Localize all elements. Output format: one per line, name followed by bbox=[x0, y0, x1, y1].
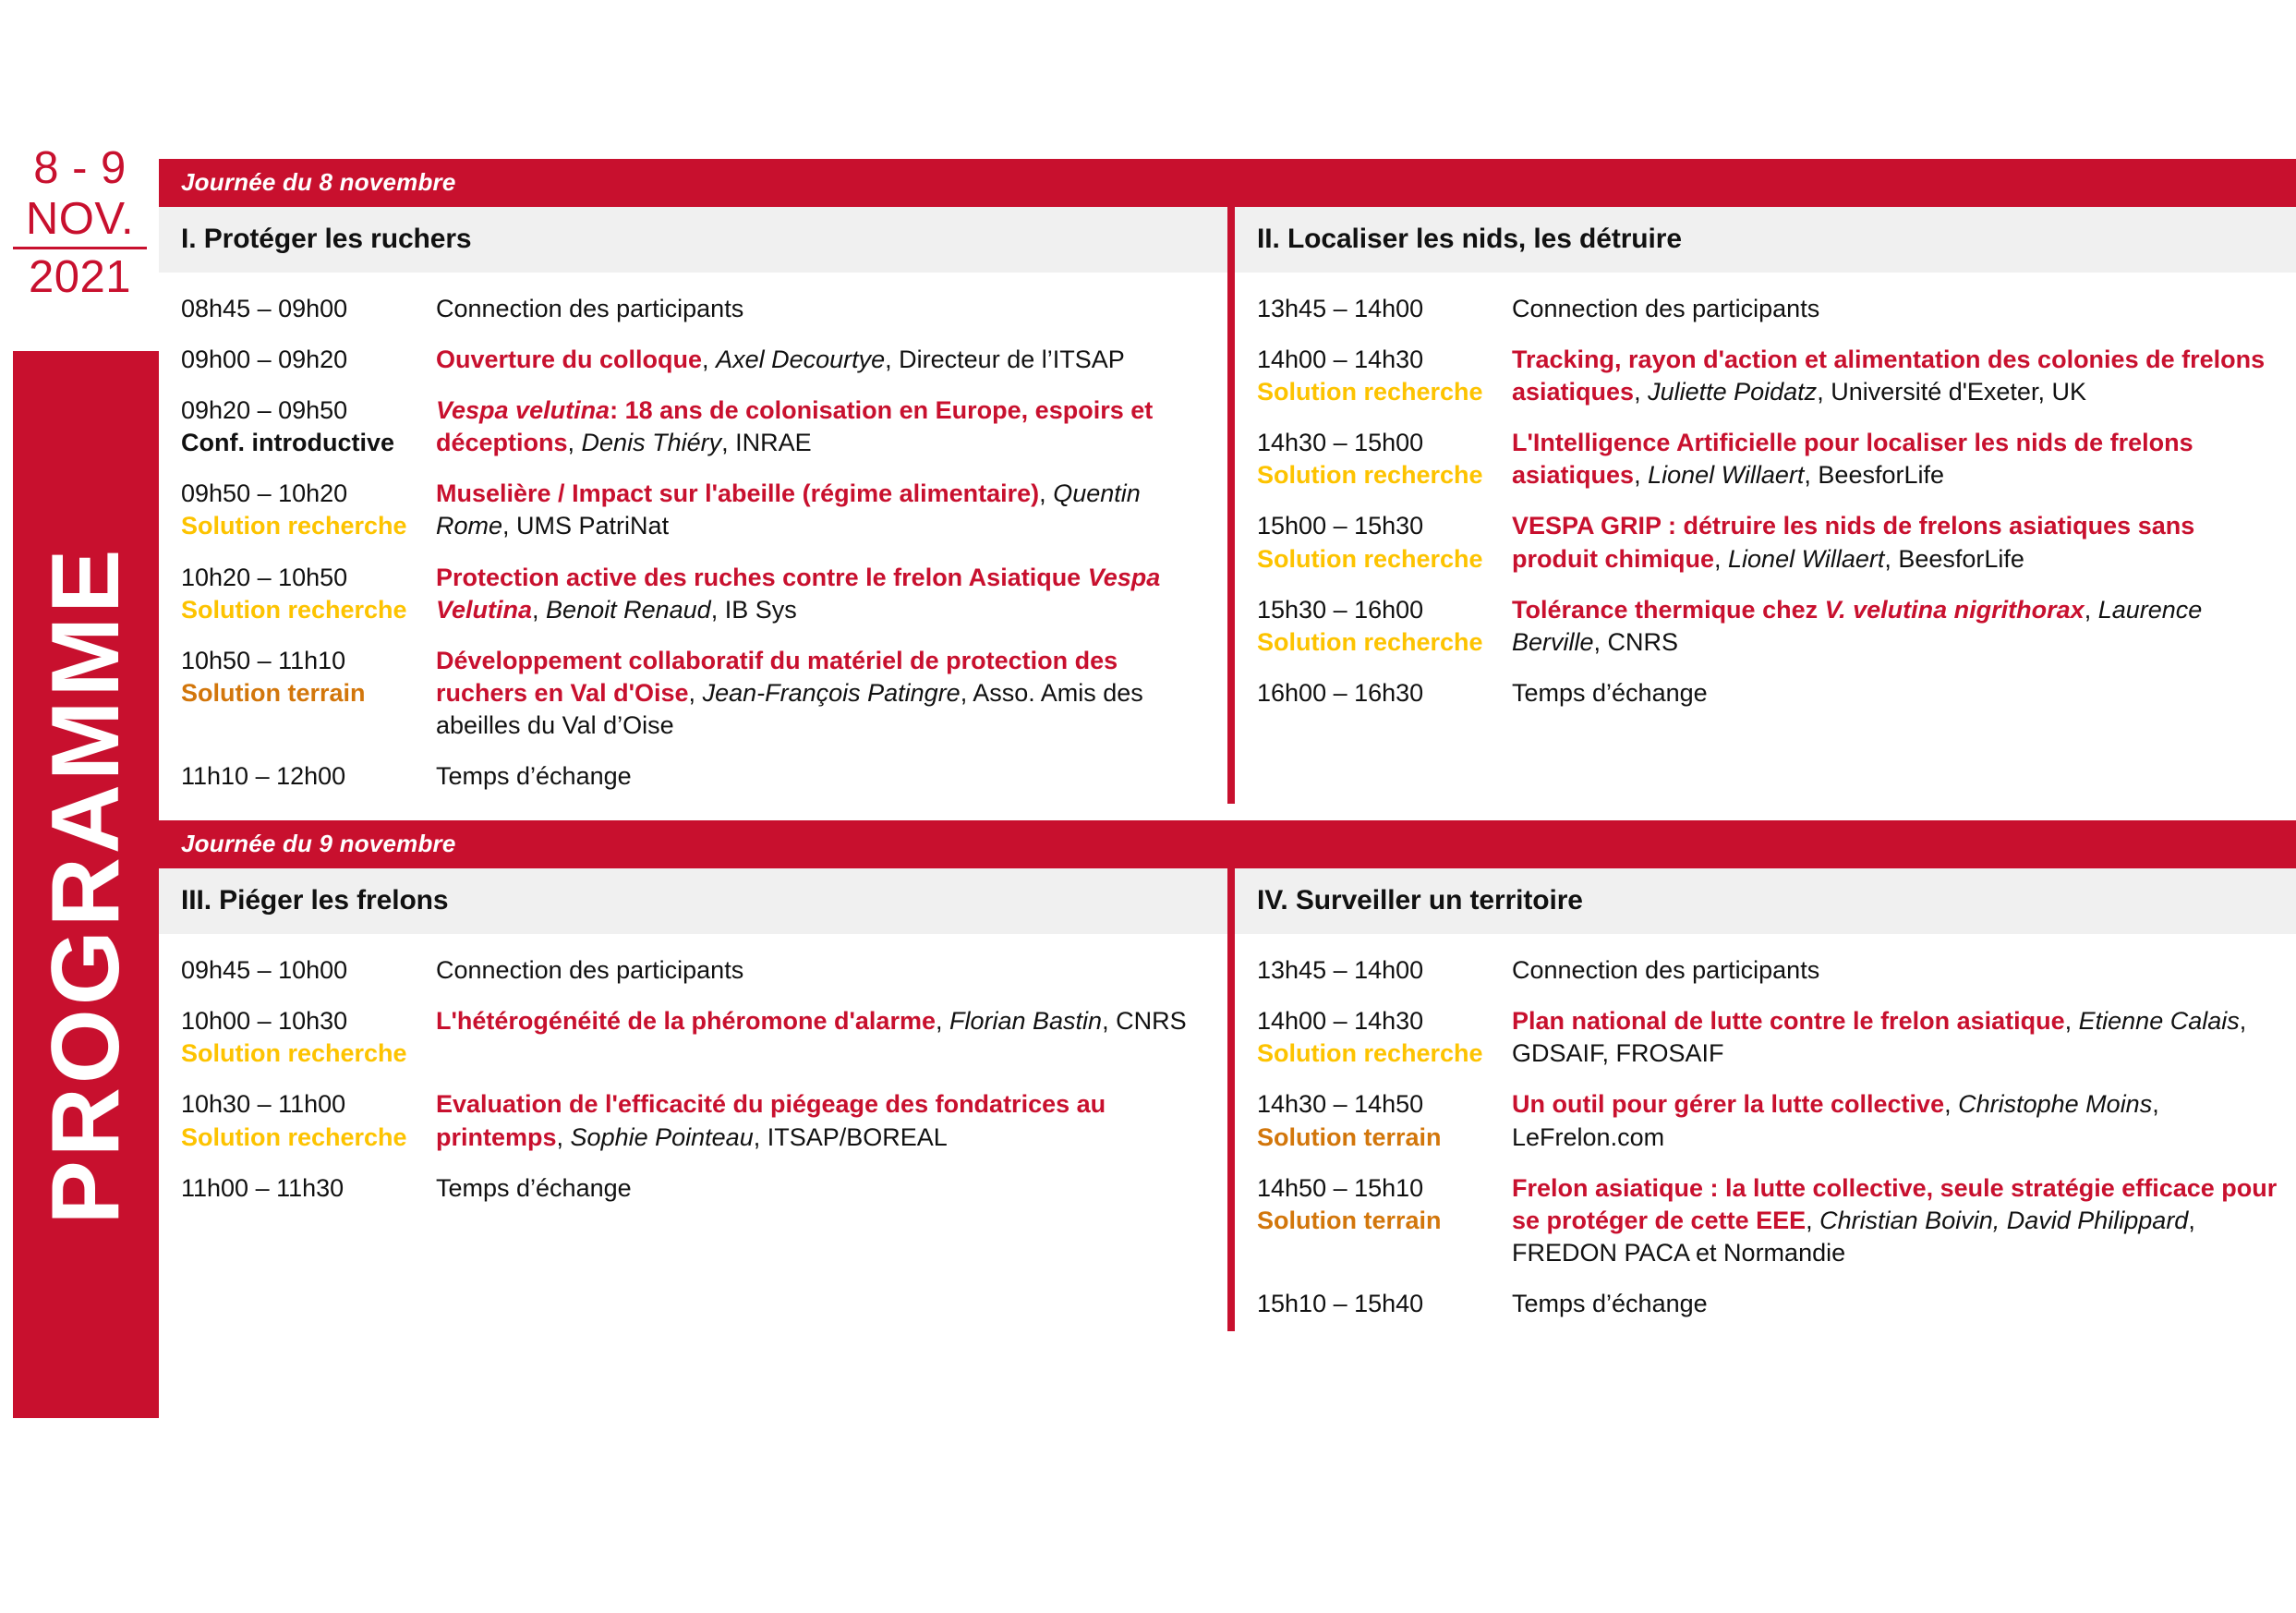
speaker-affiliation: , Université d'Exeter, UK bbox=[1817, 378, 2086, 406]
session-column-iv: IV. Surveiller un territoire 13h45 – 14h… bbox=[1227, 868, 2296, 1331]
schedule-row: 11h00 – 11h30Temps d’échange bbox=[159, 1165, 1227, 1216]
speaker-affiliation: , ITSAP/BOREAL bbox=[754, 1123, 948, 1151]
schedule-row: 08h45 – 09h00Connection des participants bbox=[159, 285, 1227, 336]
schedule-time-cell: 13h45 – 14h00 bbox=[1235, 954, 1512, 987]
date-year: 2021 bbox=[13, 249, 147, 303]
schedule-row: 11h10 – 12h00Temps d’échange bbox=[159, 753, 1227, 804]
schedule-description-cell: Ouverture du colloque, Axel Decourtye, D… bbox=[436, 344, 1227, 376]
day1-columns: I. Protéger les ruchers 08h45 – 09h00Con… bbox=[159, 207, 2296, 804]
day1-bottom-spacer bbox=[159, 804, 2296, 820]
talk-title: Tolérance thermique chez bbox=[1512, 596, 1825, 624]
speaker-affiliation: , BeesforLife bbox=[1884, 545, 2024, 573]
speaker-affiliation: Connection des participants bbox=[436, 956, 743, 984]
schedule-time-cell: 15h30 – 16h00Solution recherche bbox=[1235, 594, 1512, 659]
speaker-name: Christian Boivin, David Philippard bbox=[1819, 1207, 2188, 1234]
schedule-row: 13h45 – 14h00Connection des participants bbox=[1235, 285, 2296, 336]
schedule-description-cell: Temps d’échange bbox=[1512, 677, 2296, 709]
talk-title: Muselière / Impact sur l'abeille (régime… bbox=[436, 479, 1039, 507]
session-rows-i: 08h45 – 09h00Connection des participants… bbox=[159, 273, 1227, 804]
day-banner-8-november: Journée du 8 novembre bbox=[159, 159, 2296, 207]
schedule-tag-recherche: Solution recherche bbox=[181, 594, 436, 626]
schedule-description-cell: Protection active des ruches contre le f… bbox=[436, 562, 1227, 626]
schedule-row: 13h45 – 14h00Connection des participants bbox=[1235, 947, 2296, 998]
schedule-row: 10h20 – 10h50Solution rechercheProtectio… bbox=[159, 554, 1227, 637]
schedule-row: 14h30 – 14h50Solution terrainUn outil po… bbox=[1235, 1081, 2296, 1164]
schedule-time-cell: 10h00 – 10h30Solution recherche bbox=[159, 1005, 436, 1070]
schedule-time: 08h45 – 09h00 bbox=[181, 293, 436, 325]
schedule-tag-recherche: Solution recherche bbox=[1257, 459, 1512, 491]
schedule-time-cell: 09h45 – 10h00 bbox=[159, 954, 436, 987]
speaker-affiliation: Connection des participants bbox=[436, 295, 743, 322]
schedule-tag-terrain: Solution terrain bbox=[1257, 1205, 1512, 1237]
speaker-affiliation: , bbox=[2065, 1007, 2079, 1035]
schedule-time: 09h50 – 10h20 bbox=[181, 478, 436, 510]
speaker-affiliation: , bbox=[1634, 461, 1648, 489]
schedule-description-cell: Temps d’échange bbox=[436, 760, 1227, 793]
schedule-description-cell: VESPA GRIP : détruire les nids de frelon… bbox=[1512, 510, 2296, 575]
schedule-tag-recherche: Solution recherche bbox=[1257, 626, 1512, 659]
session-rows-iv: 13h45 – 14h00Connection des participants… bbox=[1235, 934, 2296, 1331]
schedule-tag-intro: Conf. introductive bbox=[181, 427, 436, 459]
session-column-iii: III. Piéger les frelons 09h45 – 10h00Con… bbox=[159, 868, 1227, 1331]
speaker-affiliation: , bbox=[557, 1123, 571, 1151]
schedule-time-cell: 14h50 – 15h10Solution terrain bbox=[1235, 1172, 1512, 1237]
speaker-affiliation: , bbox=[936, 1007, 949, 1035]
left-rail: 8 - 9 NOV. 2021 PROGRAMME bbox=[13, 0, 159, 1613]
schedule-row: 14h50 – 15h10Solution terrainFrelon asia… bbox=[1235, 1165, 2296, 1280]
schedule-tag-recherche: Solution recherche bbox=[1257, 1037, 1512, 1070]
speaker-name: Denis Thiéry bbox=[582, 429, 722, 456]
programme-table: Journée du 8 novembre I. Protéger les ru… bbox=[159, 159, 2296, 1331]
programme-rail-band: PROGRAMME bbox=[13, 351, 159, 1418]
schedule-time: 10h30 – 11h00 bbox=[181, 1088, 436, 1121]
schedule-time-cell: 10h30 – 11h00Solution recherche bbox=[159, 1088, 436, 1153]
schedule-tag-recherche: Solution recherche bbox=[1257, 376, 1512, 408]
speaker-affiliation: , CNRS bbox=[1594, 628, 1679, 656]
schedule-time-cell: 14h30 – 14h50Solution terrain bbox=[1235, 1088, 1512, 1153]
section-title-iii: III. Piéger les frelons bbox=[159, 868, 1227, 934]
speaker-name: Lionel Willaert bbox=[1648, 461, 1804, 489]
talk-title: Ouverture du colloque bbox=[436, 346, 702, 373]
schedule-row: 15h00 – 15h30Solution rechercheVESPA GRI… bbox=[1235, 503, 2296, 586]
schedule-description-cell: Temps d’échange bbox=[1512, 1288, 2296, 1320]
schedule-time: 10h20 – 10h50 bbox=[181, 562, 436, 594]
speaker-affiliation: , bbox=[702, 346, 716, 373]
schedule-time: 11h00 – 11h30 bbox=[181, 1172, 436, 1205]
schedule-tag-terrain: Solution terrain bbox=[1257, 1122, 1512, 1154]
schedule-time: 14h50 – 15h10 bbox=[1257, 1172, 1512, 1205]
speaker-affiliation: Temps d’échange bbox=[436, 762, 632, 790]
schedule-time-cell: 10h20 – 10h50Solution recherche bbox=[159, 562, 436, 626]
speaker-affiliation: , bbox=[1944, 1090, 1958, 1118]
schedule-time: 14h30 – 14h50 bbox=[1257, 1088, 1512, 1121]
schedule-time: 14h30 – 15h00 bbox=[1257, 427, 1512, 459]
date-days: 8 - 9 bbox=[13, 143, 147, 194]
session-rows-iii: 09h45 – 10h00Connection des participants… bbox=[159, 934, 1227, 1216]
schedule-row: 09h45 – 10h00Connection des participants bbox=[159, 947, 1227, 998]
session-column-i: I. Protéger les ruchers 08h45 – 09h00Con… bbox=[159, 207, 1227, 804]
schedule-description-cell: Muselière / Impact sur l'abeille (régime… bbox=[436, 478, 1227, 542]
speaker-affiliation: , bbox=[568, 429, 582, 456]
schedule-row: 09h00 – 09h20Ouverture du colloque, Axel… bbox=[159, 336, 1227, 387]
talk-title: Protection active des ruches contre le f… bbox=[436, 564, 1088, 591]
schedule-row: 09h20 – 09h50Conf. introductiveVespa vel… bbox=[159, 387, 1227, 470]
schedule-row: 09h50 – 10h20Solution rechercheMuselière… bbox=[159, 470, 1227, 553]
schedule-time: 10h50 – 11h10 bbox=[181, 645, 436, 677]
speaker-affiliation: , IB Sys bbox=[711, 596, 797, 624]
schedule-row: 15h30 – 16h00Solution rechercheTolérance… bbox=[1235, 587, 2296, 670]
schedule-row: 10h00 – 10h30Solution rechercheL'hétérog… bbox=[159, 998, 1227, 1081]
schedule-time-cell: 11h10 – 12h00 bbox=[159, 760, 436, 793]
schedule-row: 15h10 – 15h40Temps d’échange bbox=[1235, 1280, 2296, 1331]
schedule-time-cell: 15h00 – 15h30Solution recherche bbox=[1235, 510, 1512, 575]
schedule-description-cell: L'hétérogénéité de la phéromone d'alarme… bbox=[436, 1005, 1227, 1037]
speaker-affiliation: Connection des participants bbox=[1512, 295, 1819, 322]
speaker-affiliation: Temps d’échange bbox=[1512, 679, 1708, 707]
speaker-affiliation: Temps d’échange bbox=[436, 1174, 632, 1202]
schedule-description-cell: Tracking, rayon d'action et alimentation… bbox=[1512, 344, 2296, 408]
day-banner-9-november: Journée du 9 novembre bbox=[159, 820, 2296, 868]
schedule-row: 14h00 – 14h30Solution rechercheTracking,… bbox=[1235, 336, 2296, 419]
schedule-description-cell: Connection des participants bbox=[436, 954, 1227, 987]
schedule-description-cell: Connection des participants bbox=[1512, 954, 2296, 987]
speaker-affiliation: , bbox=[532, 596, 546, 624]
schedule-tag-recherche: Solution recherche bbox=[181, 510, 436, 542]
speaker-name: Benoit Renaud bbox=[546, 596, 711, 624]
schedule-time: 09h00 – 09h20 bbox=[181, 344, 436, 376]
schedule-time-cell: 16h00 – 16h30 bbox=[1235, 677, 1512, 709]
day2-columns: III. Piéger les frelons 09h45 – 10h00Con… bbox=[159, 868, 2296, 1331]
speaker-name: Juliette Poidatz bbox=[1648, 378, 1817, 406]
schedule-time: 14h00 – 14h30 bbox=[1257, 344, 1512, 376]
speaker-name: Florian Bastin bbox=[949, 1007, 1102, 1035]
speaker-affiliation: , BeesforLife bbox=[1804, 461, 1944, 489]
schedule-time-cell: 14h00 – 14h30Solution recherche bbox=[1235, 1005, 1512, 1070]
talk-title: Plan national de lutte contre le frelon … bbox=[1512, 1007, 2065, 1035]
schedule-tag-recherche: Solution recherche bbox=[181, 1122, 436, 1154]
schedule-time-cell: 13h45 – 14h00 bbox=[1235, 293, 1512, 325]
speaker-name: Etienne Calais bbox=[2079, 1007, 2240, 1035]
schedule-row: 14h30 – 15h00Solution rechercheL'Intelli… bbox=[1235, 419, 2296, 503]
speaker-affiliation: , CNRS bbox=[1102, 1007, 1187, 1035]
speaker-name: Sophie Pointeau bbox=[571, 1123, 754, 1151]
schedule-description-cell: Connection des participants bbox=[436, 293, 1227, 325]
speaker-affiliation: , bbox=[1806, 1207, 1819, 1234]
section-title-i: I. Protéger les ruchers bbox=[159, 207, 1227, 273]
speaker-affiliation: , INRAE bbox=[721, 429, 812, 456]
schedule-description-cell: Tolérance thermique chez V. velutina nig… bbox=[1512, 594, 2296, 659]
schedule-tag-terrain: Solution terrain bbox=[181, 677, 436, 709]
schedule-description-cell: Frelon asiatique : la lutte collective, … bbox=[1512, 1172, 2296, 1269]
date-month: NOV. bbox=[13, 194, 147, 249]
speaker-affiliation: , bbox=[1039, 479, 1053, 507]
talk-title: Un outil pour gérer la lutte collective bbox=[1512, 1090, 1944, 1118]
schedule-description-cell: Plan national de lutte contre le frelon … bbox=[1512, 1005, 2296, 1070]
schedule-description-cell: Connection des participants bbox=[1512, 293, 2296, 325]
speaker-name: Jean-François Patingre bbox=[703, 679, 961, 707]
session-rows-ii: 13h45 – 14h00Connection des participants… bbox=[1235, 273, 2296, 721]
event-date: 8 - 9 NOV. 2021 bbox=[13, 143, 147, 303]
schedule-time-cell: 09h50 – 10h20Solution recherche bbox=[159, 478, 436, 542]
schedule-time-cell: 10h50 – 11h10Solution terrain bbox=[159, 645, 436, 709]
schedule-time-cell: 09h00 – 09h20 bbox=[159, 344, 436, 376]
schedule-time: 15h30 – 16h00 bbox=[1257, 594, 1512, 626]
programme-vertical-title: PROGRAMME bbox=[38, 545, 134, 1224]
schedule-time: 14h00 – 14h30 bbox=[1257, 1005, 1512, 1037]
speaker-affiliation: Temps d’échange bbox=[1512, 1290, 1708, 1317]
schedule-time: 16h00 – 16h30 bbox=[1257, 677, 1512, 709]
schedule-row: 14h00 – 14h30Solution recherchePlan nati… bbox=[1235, 998, 2296, 1081]
talk-title: L'hétérogénéité de la phéromone d'alarme bbox=[436, 1007, 936, 1035]
speaker-name: Lionel Willaert bbox=[1728, 545, 1884, 573]
section-title-ii: II. Localiser les nids, les détruire bbox=[1235, 207, 2296, 273]
schedule-time-cell: 14h00 – 14h30Solution recherche bbox=[1235, 344, 1512, 408]
schedule-description-cell: L'Intelligence Artificielle pour localis… bbox=[1512, 427, 2296, 491]
schedule-time-cell: 08h45 – 09h00 bbox=[159, 293, 436, 325]
speaker-affiliation: , bbox=[689, 679, 703, 707]
schedule-description-cell: Développement collaboratif du matériel d… bbox=[436, 645, 1227, 742]
schedule-description-cell: Temps d’échange bbox=[436, 1172, 1227, 1205]
schedule-time-cell: 11h00 – 11h30 bbox=[159, 1172, 436, 1205]
schedule-time: 15h10 – 15h40 bbox=[1257, 1288, 1512, 1320]
schedule-time: 11h10 – 12h00 bbox=[181, 760, 436, 793]
schedule-tag-recherche: Solution recherche bbox=[181, 1037, 436, 1070]
schedule-time: 13h45 – 14h00 bbox=[1257, 293, 1512, 325]
schedule-tag-recherche: Solution recherche bbox=[1257, 543, 1512, 576]
speaker-affiliation: Connection des participants bbox=[1512, 956, 1819, 984]
speaker-affiliation: , UMS PatriNat bbox=[502, 512, 669, 540]
speaker-affiliation: , bbox=[1634, 378, 1648, 406]
schedule-description-cell: Vespa velutina: 18 ans de colonisation e… bbox=[436, 394, 1227, 459]
schedule-time-cell: 14h30 – 15h00Solution recherche bbox=[1235, 427, 1512, 491]
schedule-time: 09h20 – 09h50 bbox=[181, 394, 436, 427]
schedule-row: 10h50 – 11h10Solution terrainDéveloppeme… bbox=[159, 637, 1227, 753]
schedule-row: 10h30 – 11h00Solution rechercheEvaluatio… bbox=[159, 1081, 1227, 1164]
schedule-row: 16h00 – 16h30Temps d’échange bbox=[1235, 670, 2296, 721]
speaker-name: Christophe Moins bbox=[1958, 1090, 2152, 1118]
schedule-description-cell: Evaluation de l'efficacité du piégeage d… bbox=[436, 1088, 1227, 1153]
session-column-ii: II. Localiser les nids, les détruire 13h… bbox=[1227, 207, 2296, 804]
schedule-time: 10h00 – 10h30 bbox=[181, 1005, 436, 1037]
speaker-affiliation: , bbox=[2085, 596, 2098, 624]
speaker-affiliation: , bbox=[1714, 545, 1728, 573]
speaker-affiliation: , Directeur de l’ITSAP bbox=[885, 346, 1125, 373]
section-title-iv: IV. Surveiller un territoire bbox=[1235, 868, 2296, 934]
talk-title-species: Vespa velutina bbox=[436, 396, 610, 424]
schedule-time: 13h45 – 14h00 bbox=[1257, 954, 1512, 987]
schedule-time-cell: 15h10 – 15h40 bbox=[1235, 1288, 1512, 1320]
talk-title-species: V. velutina nigrithorax bbox=[1825, 596, 2085, 624]
schedule-description-cell: Un outil pour gérer la lutte collective,… bbox=[1512, 1088, 2296, 1153]
schedule-time: 09h45 – 10h00 bbox=[181, 954, 436, 987]
speaker-name: Axel Decourtye bbox=[716, 346, 885, 373]
schedule-time: 15h00 – 15h30 bbox=[1257, 510, 1512, 542]
schedule-time-cell: 09h20 – 09h50Conf. introductive bbox=[159, 394, 436, 459]
